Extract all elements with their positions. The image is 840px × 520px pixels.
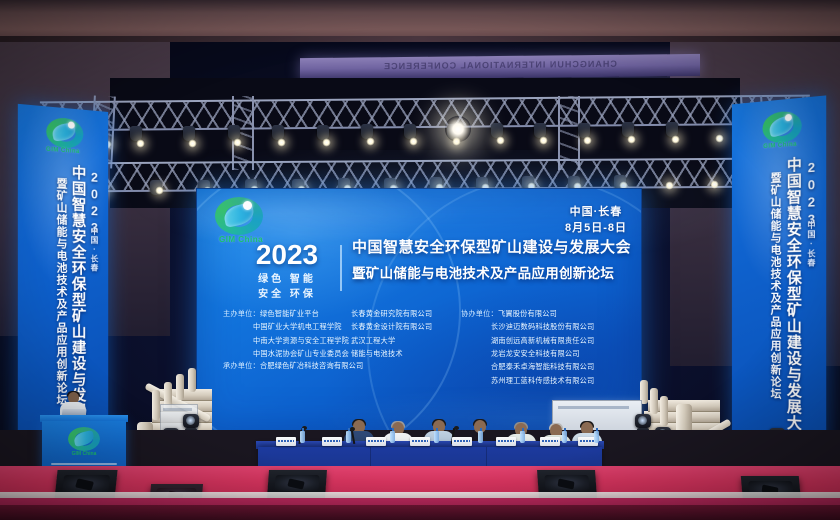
coorg-item-2: 湖南创远高新机械有限责任公司 [461, 334, 621, 347]
screen-title-block: 中国智慧安全环保型矿山建设与发展大会 暨矿山储能与电池技术及产品应用创新论坛 [352, 239, 632, 282]
screen-slogan-line1: 绿色 智能 [239, 272, 335, 287]
coorg-label: 协办单位： [461, 309, 498, 318]
screen-title-main: 中国智慧安全环保型矿山建设与发展大会 [352, 239, 632, 258]
banner-left-logo: GIM China [42, 116, 87, 165]
host-item-1: 中国矿业大学机电工程学院 [223, 320, 351, 333]
host-item-3: 中国水泥协会矿山专业委员会 [223, 347, 351, 360]
banner-right-city: 中国·长春 [806, 221, 815, 268]
host2-item-3: 储能与电池技术 [351, 347, 461, 360]
side-display-right-bar [558, 406, 628, 409]
screen-city: 中国·长春 [565, 205, 627, 221]
banner-right-year: 2023 [804, 159, 818, 229]
undertaker-name: 合肥绿色矿冶科技咨询有限公司 [260, 361, 363, 370]
screen-slogan-line2: 安全 环保 [239, 287, 335, 302]
organizer-column-host-1: 主办单位：绿色智能矿业平台 中国矿业大学机电工程学院 中南大学资源与安全工程学院… [223, 307, 351, 387]
screen-year: 2023 [239, 241, 335, 269]
ceiling-soffit: CHANGCHUN INTERNATIONAL CONFERENCE [300, 54, 700, 80]
podium-logo-wordmark: GIM China [64, 451, 104, 457]
main-led-screen: GIM China 中国·长春 8月5日-8日 2023 绿色 智能 安全 环保… [196, 188, 642, 432]
logo-dot [243, 201, 252, 210]
host2-item-0: 长春黄金研究院有限公司 [351, 307, 461, 320]
screen-title-sub: 暨矿山储能与电池技术及产品应用创新论坛 [352, 262, 632, 282]
coorg-item-1: 长沙迪迈数码科技股份有限公司 [461, 320, 621, 333]
conference-stage-photo: CHANGCHUN INTERNATIONAL CONFERENCE [0, 0, 840, 520]
banner-right-logo-wordmark: GIM China [757, 141, 804, 150]
ceiling-band [0, 0, 840, 42]
host2-item-2: 武汉工程大学 [351, 334, 461, 347]
screen-city-date: 中国·长春 8月5日-8日 [565, 205, 627, 237]
organizer-column-coorganizers: 协办单位：飞翼股份有限公司 长沙迪迈数码科技股份有限公司 湖南创远高新机械有限责… [461, 307, 621, 387]
host-item-2: 中南大学资源与安全工程学院 [223, 334, 351, 347]
side-display-left-bar [163, 408, 192, 411]
stage-front-lip [0, 505, 840, 520]
banner-right-logo: GIM China [759, 110, 804, 160]
screen-year-block: 2023 绿色 智能 安全 环保 [239, 241, 335, 302]
host-item-0: 绿色智能矿业平台 [260, 309, 319, 318]
host2-item-1: 长春黄金设计院有限公司 [351, 320, 461, 333]
screen-title-divider [340, 245, 342, 291]
screen-dates: 8月5日-8日 [565, 221, 627, 237]
undertaker-label: 承办单位： [223, 361, 260, 370]
coorg-item-4: 合肥泰禾卓海智能科技有限公司 [461, 360, 621, 373]
host-label: 主办单位： [223, 309, 260, 318]
hot-spotlight [445, 116, 471, 142]
coorg-item-0: 飞翼股份有限公司 [498, 309, 557, 318]
podium-logo: GIM China [64, 427, 104, 459]
banner-left-logo-wordmark: GIM China [40, 146, 85, 155]
coorg-item-3: 龙岩龙安安全科技有限公司 [461, 347, 621, 360]
venue-ceiling-text: CHANGCHUN INTERNATIONAL CONFERENCE [300, 58, 700, 72]
coorg-item-5: 苏州理工蓝科传感技术有限公司 [461, 374, 621, 387]
screen-organizers: 主办单位：绿色智能矿业平台 中国矿业大学机电工程学院 中南大学资源与安全工程学院… [223, 307, 623, 387]
organizer-column-host-2: 长春黄金研究院有限公司 长春黄金设计院有限公司 武汉工程大学 储能与电池技术 [351, 307, 461, 387]
banner-left-city: 中国·长春 [90, 227, 98, 273]
screen-undertaker-line: 承办单位：合肥绿色矿冶科技咨询有限公司 [223, 361, 363, 371]
